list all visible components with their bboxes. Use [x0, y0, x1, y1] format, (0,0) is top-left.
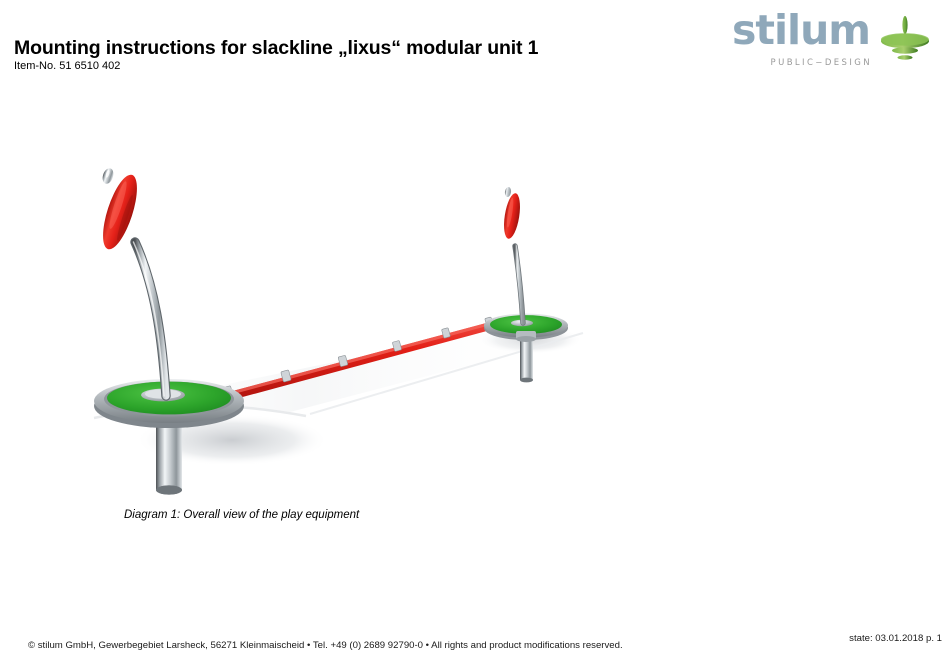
spinning-top-icon	[874, 12, 936, 70]
document-header: Mounting instructions for slackline „lix…	[0, 0, 950, 86]
page-title: Mounting instructions for slackline „lix…	[14, 39, 538, 59]
right-post-grip	[501, 187, 522, 240]
item-number-label: Item-No. 51 6510 402	[14, 61, 120, 72]
logo-wordmark: stilum	[732, 10, 870, 51]
footer-state-text: state: 03.01.2018 p. 1	[849, 634, 942, 644]
brand-logo: stilum PUBLIC−DESIGN	[692, 10, 942, 72]
left-post-tube	[133, 242, 166, 396]
figure-block: Diagram 1: Overall view of the play equi…	[60, 150, 630, 540]
figure-caption: Diagram 1: Overall view of the play equi…	[124, 510, 359, 522]
footer-legal-text: © stilum GmbH, Gewerbegebiet Larsheck, 5…	[28, 641, 623, 651]
slackline-play-equipment-render	[60, 150, 620, 505]
logo-tagline: PUBLIC−DESIGN	[771, 59, 872, 68]
right-post-tube	[515, 246, 523, 323]
document-footer: © stilum GmbH, Gewerbegebiet Larsheck, 5…	[0, 622, 950, 670]
